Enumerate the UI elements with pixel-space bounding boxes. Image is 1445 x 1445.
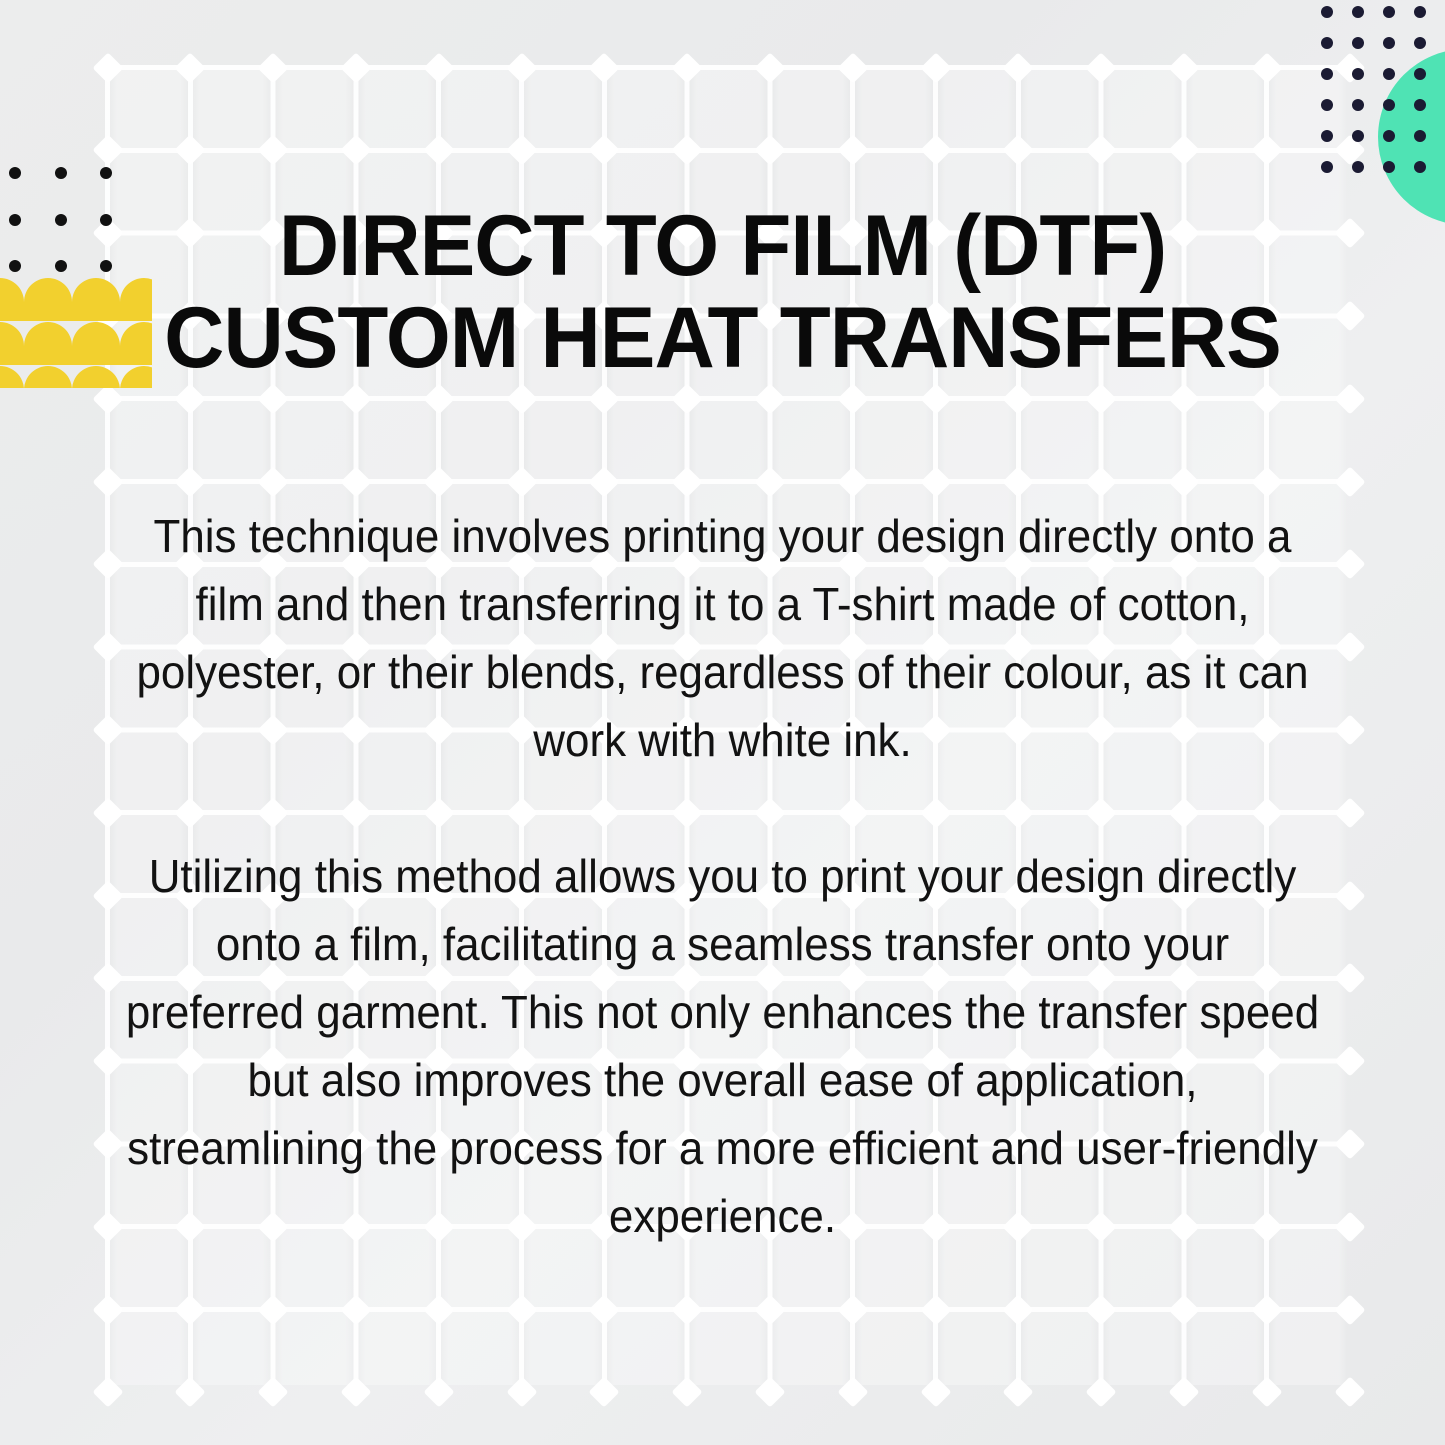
page-title-line-2: CUSTOM HEAT TRANSFERS: [119, 292, 1327, 385]
page-title-line-1: DIRECT TO FILM (DTF): [119, 200, 1327, 293]
poster-content: DIRECT TO FILM (DTF) CUSTOM HEAT TRANSFE…: [0, 0, 1445, 1445]
body-paragraph-2: Utilizing this method allows you to prin…: [123, 842, 1322, 1250]
body-paragraph-1: This technique involves printing your de…: [123, 502, 1322, 774]
poster-canvas: DIRECT TO FILM (DTF) CUSTOM HEAT TRANSFE…: [0, 0, 1445, 1445]
page-title: DIRECT TO FILM (DTF) CUSTOM HEAT TRANSFE…: [119, 200, 1327, 386]
